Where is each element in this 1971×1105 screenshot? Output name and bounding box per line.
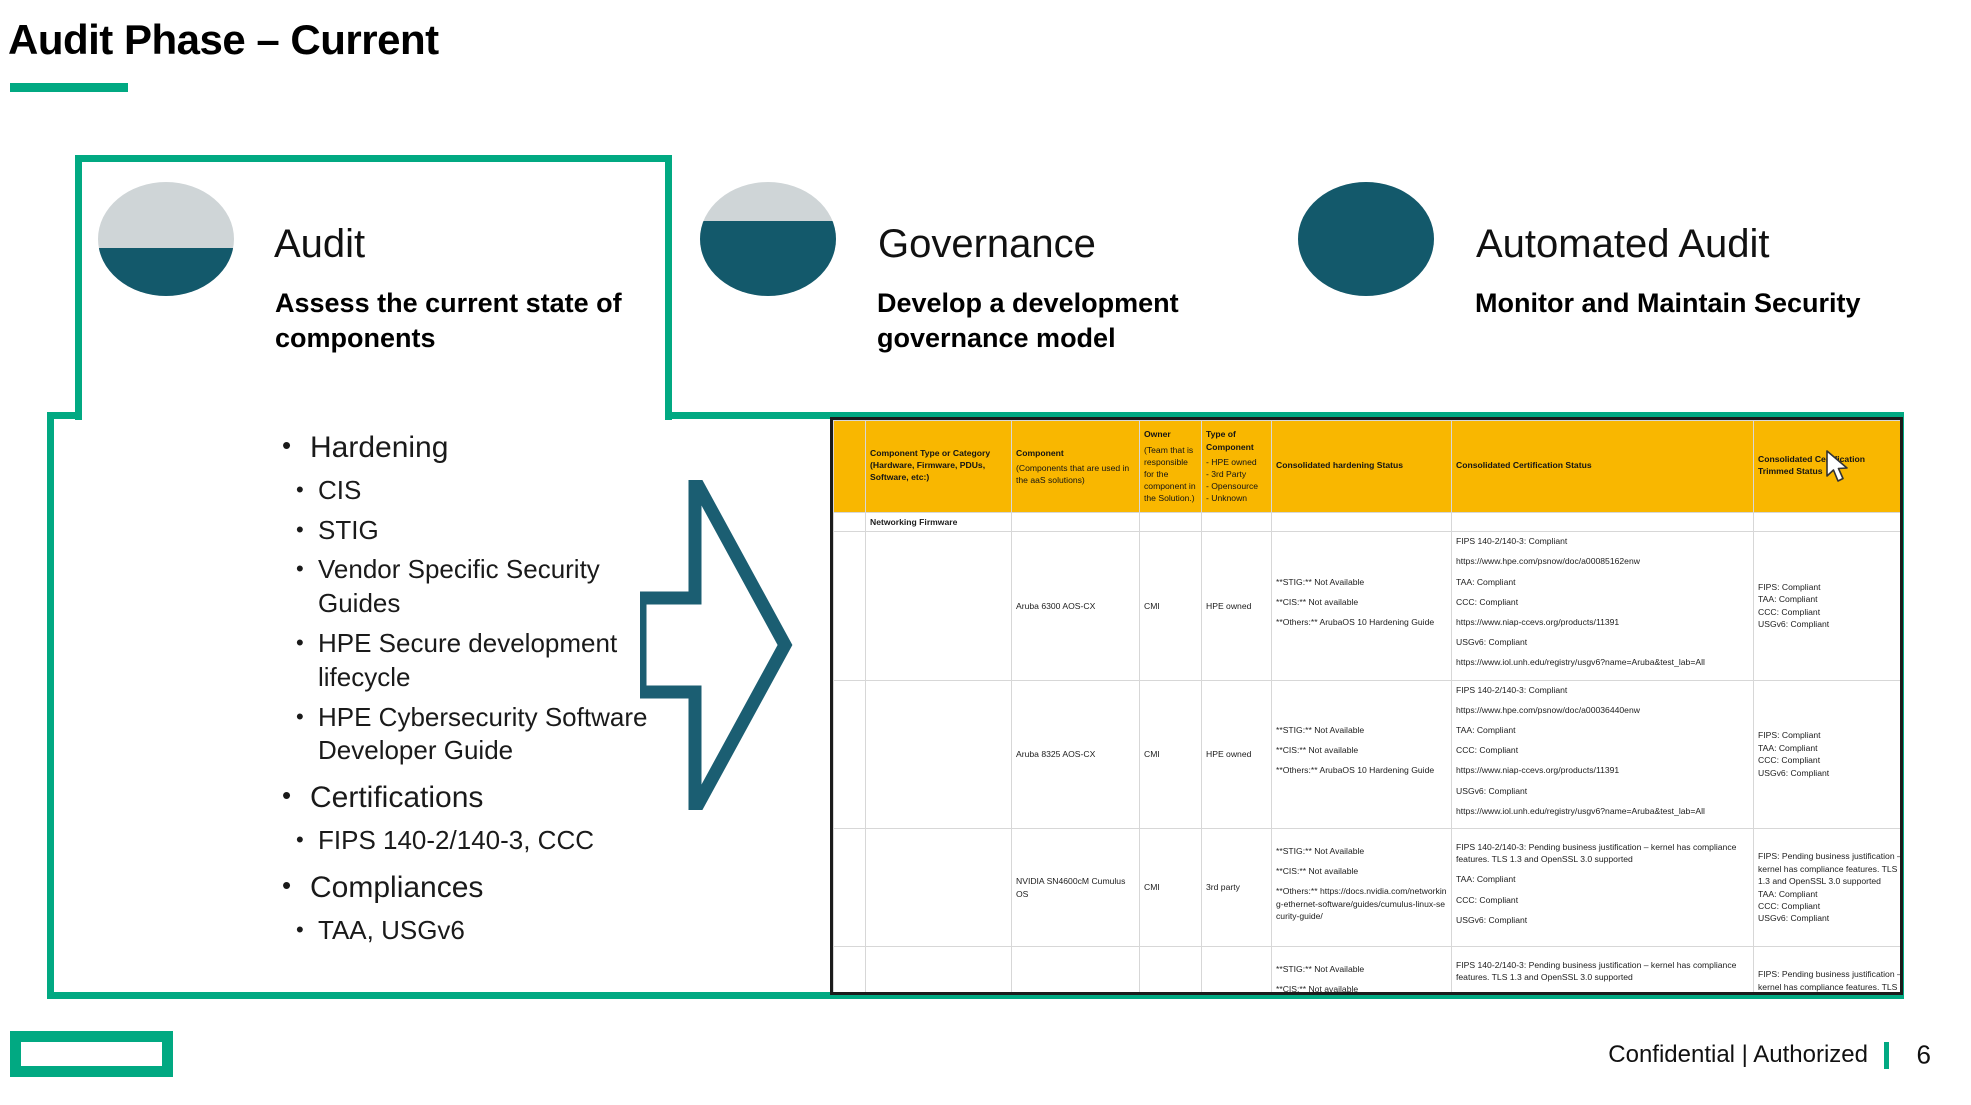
cell-hardening-status: **STIG:** Not Available **CIS:** Not ava… bbox=[1272, 947, 1452, 995]
cell-component-type bbox=[866, 532, 1012, 680]
column-header-index[interactable] bbox=[834, 421, 866, 513]
hpe-logo bbox=[10, 1031, 173, 1077]
certification-line: CCC: Compliant bbox=[1456, 744, 1749, 756]
footer-page-number: 6 bbox=[1917, 1040, 1931, 1071]
header-note-line: - Unknown bbox=[1206, 492, 1267, 504]
header-title: Consolidated Certification Status bbox=[1456, 459, 1749, 471]
trimmed-line: USGv6: Compliant bbox=[1758, 767, 1902, 779]
list-item: TAA, USGv6 bbox=[276, 914, 676, 948]
progress-circle-governance-icon bbox=[700, 182, 836, 296]
certification-link[interactable]: https://www.niap-ccevs.org/products/1139… bbox=[1456, 616, 1749, 628]
column-header-certification-status[interactable]: Consolidated Certification Status bbox=[1452, 421, 1754, 513]
column-header-owner[interactable]: Owner (Team that is responsible for the … bbox=[1140, 421, 1202, 513]
right-arrow-icon bbox=[640, 480, 840, 810]
header-note-line: - Opensource bbox=[1206, 480, 1267, 492]
header-title: Owner bbox=[1144, 428, 1197, 440]
certification-line: TAA: Compliant bbox=[1456, 724, 1749, 736]
certification-link[interactable]: https://www.hpe.com/psnow/doc/a00036440e… bbox=[1456, 704, 1749, 716]
list-item: Vendor Specific Security Guides bbox=[276, 553, 676, 621]
empty-cell bbox=[1012, 513, 1140, 532]
audit-bullet-list: Hardening CIS STIG Vendor Specific Secur… bbox=[276, 428, 676, 948]
list-item: HPE Secure development lifecycle bbox=[276, 627, 676, 695]
certification-line: FIPS 140-2/140-3: Compliant bbox=[1456, 684, 1749, 696]
cell-owner: CMI bbox=[1140, 680, 1202, 828]
cell-component: NVIDIA SN4700M Cumulus OS bbox=[1012, 947, 1140, 995]
row-index-cell bbox=[834, 829, 866, 947]
trimmed-line: CCC: Compliant bbox=[1758, 754, 1902, 766]
list-item: Certifications bbox=[276, 778, 676, 818]
cell-owner: CMI bbox=[1140, 947, 1202, 995]
certification-line: TAA: Compliant bbox=[1456, 576, 1749, 588]
pillar-heading-automated-audit: Automated Audit bbox=[1476, 222, 1770, 267]
row-index-cell bbox=[834, 947, 866, 995]
trimmed-line: CCC: Compliant bbox=[1758, 606, 1902, 618]
list-item: HPE Cybersecurity Software Developer Gui… bbox=[276, 701, 676, 769]
progress-circle-fill bbox=[1298, 182, 1434, 296]
certification-line: USGv6: Compliant bbox=[1456, 785, 1749, 797]
table-row[interactable]: NVIDIA SN4700M Cumulus OS CMI 3rd party … bbox=[834, 947, 1904, 995]
empty-cell bbox=[1452, 513, 1754, 532]
row-index-cell bbox=[834, 680, 866, 828]
pillar-heading-audit: Audit bbox=[274, 222, 365, 267]
category-label: Networking Firmware bbox=[866, 513, 1012, 532]
hardening-line: **CIS:** Not available bbox=[1276, 983, 1447, 995]
cell-hardening-status: **STIG:** Not Available **CIS:** Not ava… bbox=[1272, 532, 1452, 680]
header-note: - HPE owned - 3rd Party - Opensource - U… bbox=[1206, 456, 1267, 505]
hardening-line: **Others:** ArubaOS 10 Hardening Guide bbox=[1276, 616, 1447, 628]
empty-cell bbox=[1754, 513, 1904, 532]
title-underline-rule bbox=[10, 83, 128, 92]
cell-component: Aruba 8325 AOS-CX bbox=[1012, 680, 1140, 828]
cell-type: 3rd party bbox=[1202, 947, 1272, 995]
certification-line: USGv6: Compliant bbox=[1456, 914, 1749, 926]
hardening-line: **CIS:** Not available bbox=[1276, 865, 1447, 877]
trimmed-line: FIPS: Compliant bbox=[1758, 729, 1902, 741]
empty-cell bbox=[1202, 513, 1272, 532]
header-note-line: - 3rd Party bbox=[1206, 468, 1267, 480]
trimmed-line: CCC: Compliant bbox=[1758, 900, 1902, 912]
certification-link[interactable]: https://www.iol.unh.edu/registry/usgv6?n… bbox=[1456, 656, 1749, 668]
table-row[interactable]: Aruba 8325 AOS-CX CMI HPE owned **STIG:*… bbox=[834, 680, 1904, 828]
progress-circle-audit-icon bbox=[98, 182, 234, 296]
column-header-type-of-component[interactable]: Type of Component - HPE owned - 3rd Part… bbox=[1202, 421, 1272, 513]
list-item: FIPS 140-2/140-3, CCC bbox=[276, 824, 676, 858]
cell-owner: CMI bbox=[1140, 532, 1202, 680]
progress-circle-automated-audit-icon bbox=[1298, 182, 1434, 296]
cell-component: NVIDIA SN4600cM Cumulus OS bbox=[1012, 829, 1140, 947]
cell-certification-status: FIPS 140-2/140-3: Compliant https://www.… bbox=[1452, 532, 1754, 680]
trimmed-line: FIPS: Compliant bbox=[1758, 581, 1902, 593]
cell-certification-status: FIPS 140-2/140-3: Pending business justi… bbox=[1452, 947, 1754, 995]
trimmed-line: TAA: Compliant bbox=[1758, 742, 1902, 754]
empty-cell bbox=[1272, 513, 1452, 532]
progress-circle-fill bbox=[700, 221, 836, 296]
progress-circle-fill bbox=[98, 248, 234, 296]
certification-line: CCC: Compliant bbox=[1456, 894, 1749, 906]
trimmed-line: USGv6: Compliant bbox=[1758, 912, 1902, 924]
cell-owner: CMI bbox=[1140, 829, 1202, 947]
cell-component-type bbox=[866, 947, 1012, 995]
pillar-subheading-automated-audit: Monitor and Maintain Security bbox=[1475, 286, 1895, 321]
cell-component: Aruba 6300 AOS-CX bbox=[1012, 532, 1140, 680]
cell-certification-trimmed-status: FIPS: Compliant TAA: Compliant CCC: Comp… bbox=[1754, 532, 1904, 680]
certification-link[interactable]: https://www.niap-ccevs.org/products/1139… bbox=[1456, 764, 1749, 776]
hardening-line: **STIG:** Not Available bbox=[1276, 576, 1447, 588]
certification-line: TAA: Compliant bbox=[1456, 873, 1749, 885]
trimmed-line: FIPS: Pending business justification – k… bbox=[1758, 968, 1902, 995]
cell-certification-trimmed-status: FIPS: Pending business justification – k… bbox=[1754, 829, 1904, 947]
hardening-line: **CIS:** Not available bbox=[1276, 744, 1447, 756]
header-note: (Team that is responsible for the compon… bbox=[1144, 444, 1197, 505]
cell-hardening-status: **STIG:** Not Available **CIS:** Not ava… bbox=[1272, 680, 1452, 828]
component-inventory-table[interactable]: Component Type or Category (Hardware, Fi… bbox=[830, 417, 1903, 995]
list-item: Compliances bbox=[276, 868, 676, 908]
slide: Audit Phase – Current Audit Assess the c… bbox=[0, 0, 1971, 1105]
cell-certification-status: FIPS 140-2/140-3: Compliant https://www.… bbox=[1452, 680, 1754, 828]
cell-hardening-status: **STIG:** Not Available **CIS:** Not ava… bbox=[1272, 829, 1452, 947]
cell-component-type bbox=[866, 829, 1012, 947]
list-item: Hardening bbox=[276, 428, 676, 468]
cell-certification-trimmed-status: FIPS: Compliant TAA: Compliant CCC: Comp… bbox=[1754, 680, 1904, 828]
footer-separator bbox=[1884, 1042, 1889, 1069]
mouse-cursor-icon bbox=[1826, 450, 1852, 484]
cell-component-type bbox=[866, 680, 1012, 828]
header-title: Type of Component bbox=[1206, 428, 1267, 452]
cell-type: 3rd party bbox=[1202, 829, 1272, 947]
row-index-cell bbox=[834, 532, 866, 680]
column-header-component[interactable]: Component (Components that are used in t… bbox=[1012, 421, 1140, 513]
cell-type: HPE owned bbox=[1202, 532, 1272, 680]
trimmed-line: USGv6: Compliant bbox=[1758, 618, 1902, 630]
certification-line: FIPS 140-2/140-3: Compliant bbox=[1456, 535, 1749, 547]
cell-certification-trimmed-status: FIPS: Pending business justification – k… bbox=[1754, 947, 1904, 995]
frame-joint-mask bbox=[82, 405, 665, 421]
header-note: (Components that are used in the aaS sol… bbox=[1016, 462, 1135, 486]
hardening-line: **STIG:** Not Available bbox=[1276, 845, 1447, 857]
cell-type: HPE owned bbox=[1202, 680, 1272, 828]
trimmed-line: TAA: Compliant bbox=[1758, 593, 1902, 605]
header-title: Component bbox=[1016, 447, 1135, 459]
hardening-line: **Others:** ArubaOS 10 Hardening Guide bbox=[1276, 764, 1447, 776]
pillar-subheading-governance: Develop a development governance model bbox=[877, 286, 1297, 355]
page-title: Audit Phase – Current bbox=[8, 16, 439, 64]
empty-cell bbox=[1140, 513, 1202, 532]
certification-line: USGv6: Compliant bbox=[1456, 636, 1749, 648]
certification-line: FIPS 140-2/140-3: Pending business justi… bbox=[1456, 959, 1749, 983]
certification-link[interactable]: https://www.hpe.com/psnow/doc/a00085162e… bbox=[1456, 555, 1749, 567]
column-header-component-type[interactable]: Component Type or Category (Hardware, Fi… bbox=[866, 421, 1012, 513]
table-header-row: Component Type or Category (Hardware, Fi… bbox=[834, 421, 1904, 513]
column-header-hardening-status[interactable]: Consolidated hardening Status bbox=[1272, 421, 1452, 513]
certification-line: TAA: Compliant bbox=[1456, 991, 1749, 995]
pillar-subheading-audit: Assess the current state of components bbox=[275, 286, 695, 355]
list-item: CIS bbox=[276, 474, 676, 508]
trimmed-line: FIPS: Pending business justification – k… bbox=[1758, 850, 1902, 887]
table-row[interactable]: Aruba 6300 AOS-CX CMI HPE owned **STIG:*… bbox=[834, 532, 1904, 680]
hardening-line: **CIS:** Not available bbox=[1276, 596, 1447, 608]
header-note-line: - HPE owned bbox=[1206, 456, 1267, 468]
pillar-heading-governance: Governance bbox=[878, 222, 1096, 267]
row-index-cell bbox=[834, 513, 866, 532]
hardening-link[interactable]: **Others:** https://docs.nvidia.com/netw… bbox=[1276, 885, 1447, 922]
cell-certification-status: FIPS 140-2/140-3: Pending business justi… bbox=[1452, 829, 1754, 947]
certification-line: CCC: Compliant bbox=[1456, 596, 1749, 608]
hardening-line: **STIG:** Not Available bbox=[1276, 724, 1447, 736]
header-title: Consolidated hardening Status bbox=[1276, 459, 1447, 471]
table-category-row[interactable]: Networking Firmware bbox=[834, 513, 1904, 532]
certification-line: FIPS 140-2/140-3: Pending business justi… bbox=[1456, 841, 1749, 865]
trimmed-line: TAA: Compliant bbox=[1758, 888, 1902, 900]
footer-classification: Confidential | Authorized bbox=[1608, 1041, 1868, 1069]
hardening-line: **STIG:** Not Available bbox=[1276, 963, 1447, 975]
certification-link[interactable]: https://www.iol.unh.edu/registry/usgv6?n… bbox=[1456, 805, 1749, 817]
header-title: Component Type or Category (Hardware, Fi… bbox=[870, 447, 1007, 484]
list-item: STIG bbox=[276, 514, 676, 548]
table-row[interactable]: NVIDIA SN4600cM Cumulus OS CMI 3rd party… bbox=[834, 829, 1904, 947]
